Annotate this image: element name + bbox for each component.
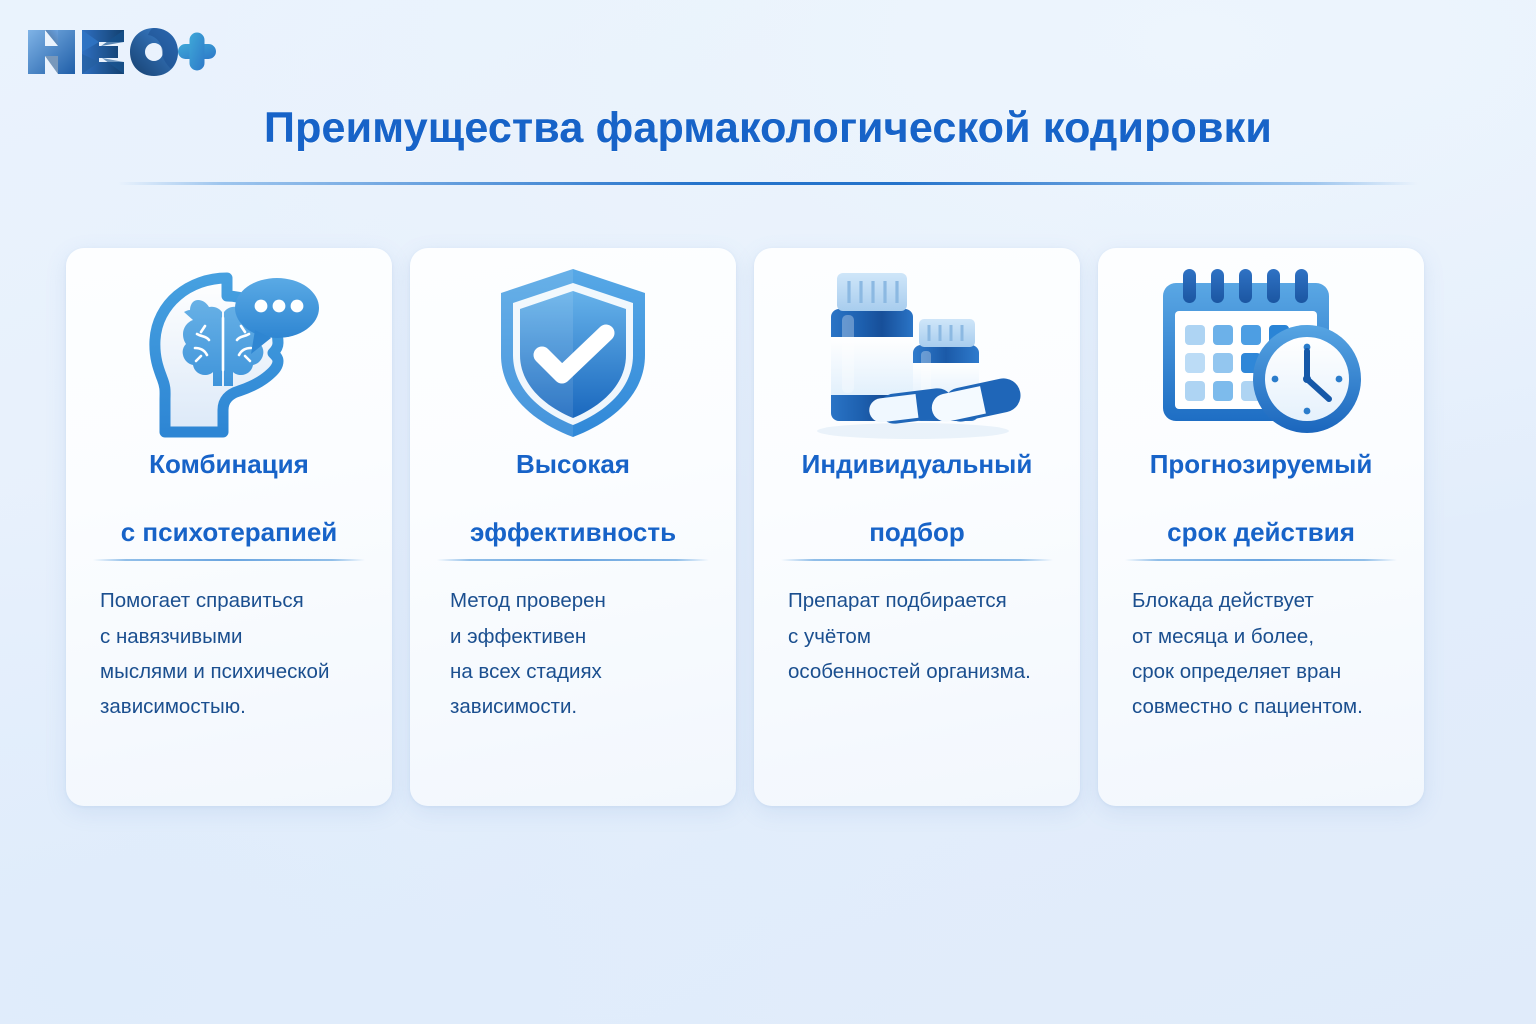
- page-title: Преимущества фармакологической кодировки: [0, 104, 1536, 153]
- card-title-line2: срок действия: [1150, 516, 1373, 550]
- card-body-line: Помогает справиться: [100, 583, 364, 618]
- card-title-line2: подбор: [802, 516, 1033, 550]
- logo-letter-o: [130, 28, 178, 76]
- benefit-card-predictable-duration[interactable]: Прогнозируемый срок действия Блокада дей…: [1098, 248, 1424, 806]
- benefit-card-combination[interactable]: Комбинация с психотерапией Помогает спра…: [66, 248, 392, 806]
- card-body-line: особенностей организма.: [788, 654, 1052, 689]
- title-divider: [118, 182, 1418, 185]
- card-title: Прогнозируемый срок действия: [1098, 444, 1424, 549]
- card-body-line: срок определяет вран: [1132, 654, 1396, 689]
- card-body-line: Препарат подбирается: [788, 583, 1052, 618]
- logo-letter-n: [28, 30, 75, 74]
- brand-logo: [18, 18, 218, 82]
- card-body: Помогает справиться с навязчивыми мыслям…: [66, 561, 392, 724]
- card-body-line: и эффективен: [450, 619, 708, 654]
- card-body: Препарат подбирается с учётом особенност…: [754, 561, 1080, 689]
- card-body-line: с учётом: [788, 619, 1052, 654]
- benefit-card-effectiveness[interactable]: Высокая эффективность Метод проверен и э…: [410, 248, 736, 806]
- card-body-line: от месяца и более,: [1132, 619, 1396, 654]
- logo-plus-icon: [178, 33, 216, 71]
- card-body-line: Метод проверен: [450, 583, 708, 618]
- logo-letter-e: [82, 30, 124, 74]
- benefit-card-individual-selection[interactable]: Индивидуальный подбор Препарат подбирает…: [754, 248, 1080, 806]
- card-title: Комбинация с психотерапией: [66, 444, 392, 549]
- card-body: Блокада действует от месяца и более, сро…: [1098, 561, 1424, 724]
- card-body: Метод проверен и эффективен на всех стад…: [410, 561, 736, 724]
- brain-head-speech-bubble-icon: [66, 248, 392, 444]
- card-title-line2: эффективность: [470, 516, 676, 550]
- card-body-line: Блокада действует: [1132, 583, 1396, 618]
- benefit-cards-row: Комбинация с психотерапией Помогает спра…: [66, 248, 1470, 806]
- card-body-line: зависимости.: [450, 689, 708, 724]
- card-title-line1: Высокая: [470, 448, 676, 482]
- card-body-line: совместно с пациентом.: [1132, 689, 1396, 724]
- calendar-clock-icon: [1098, 248, 1424, 444]
- card-title-line1: Индивидуальный: [802, 448, 1033, 482]
- shield-check-icon: [410, 248, 736, 444]
- card-title: Индивидуальный подбор: [754, 444, 1080, 549]
- medicine-bottles-pills-icon: [754, 248, 1080, 444]
- card-body-line: зависимостыю.: [100, 689, 364, 724]
- card-body-line: мыслями и психической: [100, 654, 364, 689]
- card-title-line1: Комбинация: [121, 448, 338, 482]
- card-body-line: на всех стадиях: [450, 654, 708, 689]
- card-body-line: с навязчивыми: [100, 619, 364, 654]
- card-title-line1: Прогнозируемый: [1150, 448, 1373, 482]
- infographic-canvas: Преимущества фармакологической кодировки: [0, 0, 1536, 1024]
- clock-face: [1253, 325, 1361, 433]
- card-title: Высокая эффективность: [410, 444, 736, 549]
- card-title-line2: с психотерапией: [121, 516, 338, 550]
